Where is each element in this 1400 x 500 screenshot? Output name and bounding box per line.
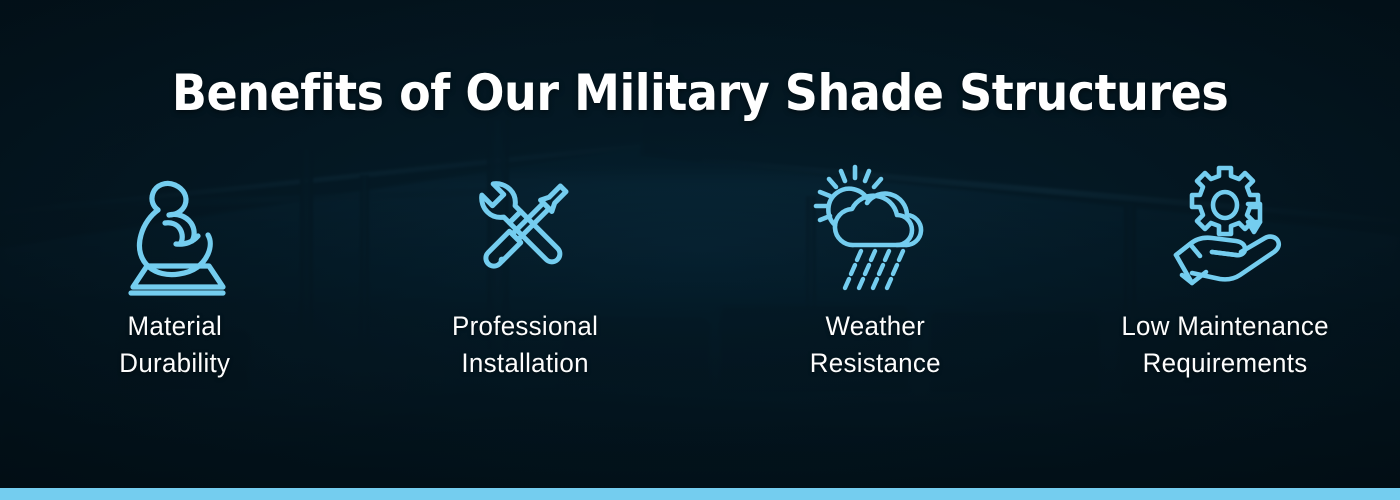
sun-cloud-rain-icon	[810, 162, 940, 292]
feature-item-professional-installation: Professional Installation	[350, 162, 700, 381]
feature-item-material-durability: Material Durability	[0, 162, 350, 381]
banner-content: Benefits of Our Military Shade Structure…	[0, 0, 1400, 500]
feature-list: Material Durability	[0, 162, 1400, 381]
feature-label-line-1: Weather	[809, 308, 940, 345]
flexing-bicep-arm-icon	[110, 162, 240, 292]
feature-label-line-1: Low Maintenance	[1121, 308, 1328, 345]
feature-label-line-2: Durability	[120, 345, 231, 382]
feature-label-line-1: Material	[120, 308, 231, 345]
feature-label-line-2: Requirements	[1121, 345, 1328, 382]
feature-label-line-1: Professional	[452, 308, 598, 345]
feature-label: Material Durability	[120, 308, 231, 381]
feature-item-low-maintenance: Low Maintenance Requirements	[1050, 162, 1400, 381]
feature-label: Professional Installation	[452, 308, 598, 381]
feature-label-line-2: Installation	[452, 345, 598, 382]
benefits-banner: Benefits of Our Military Shade Structure…	[0, 0, 1400, 500]
banner-headline: Benefits of Our Military Shade Structure…	[172, 0, 1228, 118]
screwdriver-wrench-tools-icon	[460, 162, 590, 292]
feature-label: Low Maintenance Requirements	[1121, 308, 1328, 381]
feature-item-weather-resistance: Weather Resistance	[700, 162, 1050, 381]
feature-label: Weather Resistance	[809, 308, 940, 381]
gear-arrow-down-hand-icon	[1160, 162, 1290, 292]
accent-bar	[0, 488, 1400, 500]
feature-label-line-2: Resistance	[809, 345, 940, 382]
